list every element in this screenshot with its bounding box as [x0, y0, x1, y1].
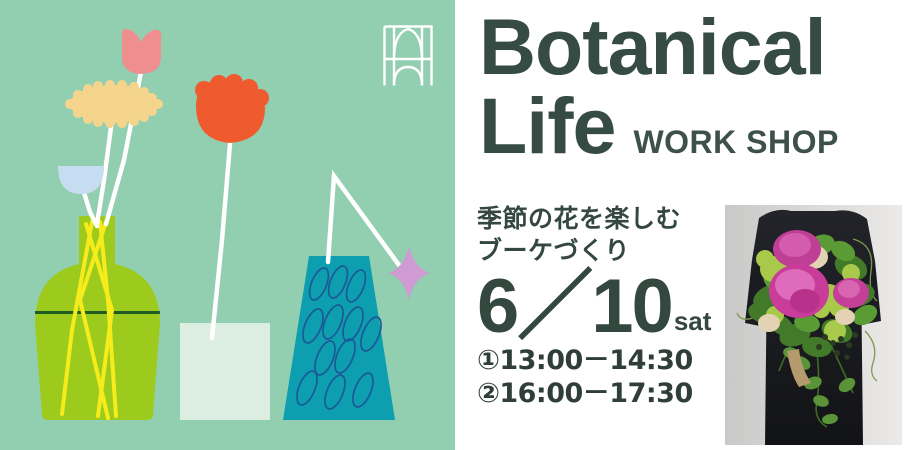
subtitle-line-1: 季節の花を楽しむ [477, 203, 727, 235]
event-weekday: sat [672, 306, 712, 342]
event-info-block: 季節の花を楽しむ ブーケづくり 6／10 sat ①13:00－14:30 ②1… [477, 203, 727, 411]
orange-poppy-flower [195, 74, 269, 143]
session-time-1: ①13:00－14:30 [477, 345, 727, 378]
flyer-poster: Botanical Life WORK SHOP 季節の花を楽しむ ブーケづくり… [0, 0, 920, 450]
title-line-botanical: Botanical [479, 8, 919, 85]
session-time-2: ②16:00－17:30 [477, 378, 727, 411]
session-times: ①13:00－14:30 ②16:00－17:30 [477, 345, 727, 411]
purple-star-shape [388, 246, 430, 300]
title-second-row: Life WORK SHOP [479, 87, 919, 164]
event-date-row: 6／10 sat [477, 271, 727, 342]
content-panel: Botanical Life WORK SHOP 季節の花を楽しむ ブーケづくり… [455, 0, 920, 450]
title-line-life: Life [479, 87, 615, 164]
event-date: 6／10 [477, 271, 672, 342]
workshop-label: WORK SHOP [633, 124, 838, 161]
blue-dome-flower [58, 166, 104, 194]
title-block: Botanical Life WORK SHOP [479, 8, 919, 165]
illustration-panel [0, 0, 455, 450]
botanical-life-monogram-icon [383, 25, 433, 87]
subtitle-line-2: ブーケづくり [477, 235, 727, 267]
pink-tulip-flower [122, 29, 162, 74]
yellow-scallop-flower [65, 80, 163, 128]
bouquet-photo [725, 205, 902, 445]
